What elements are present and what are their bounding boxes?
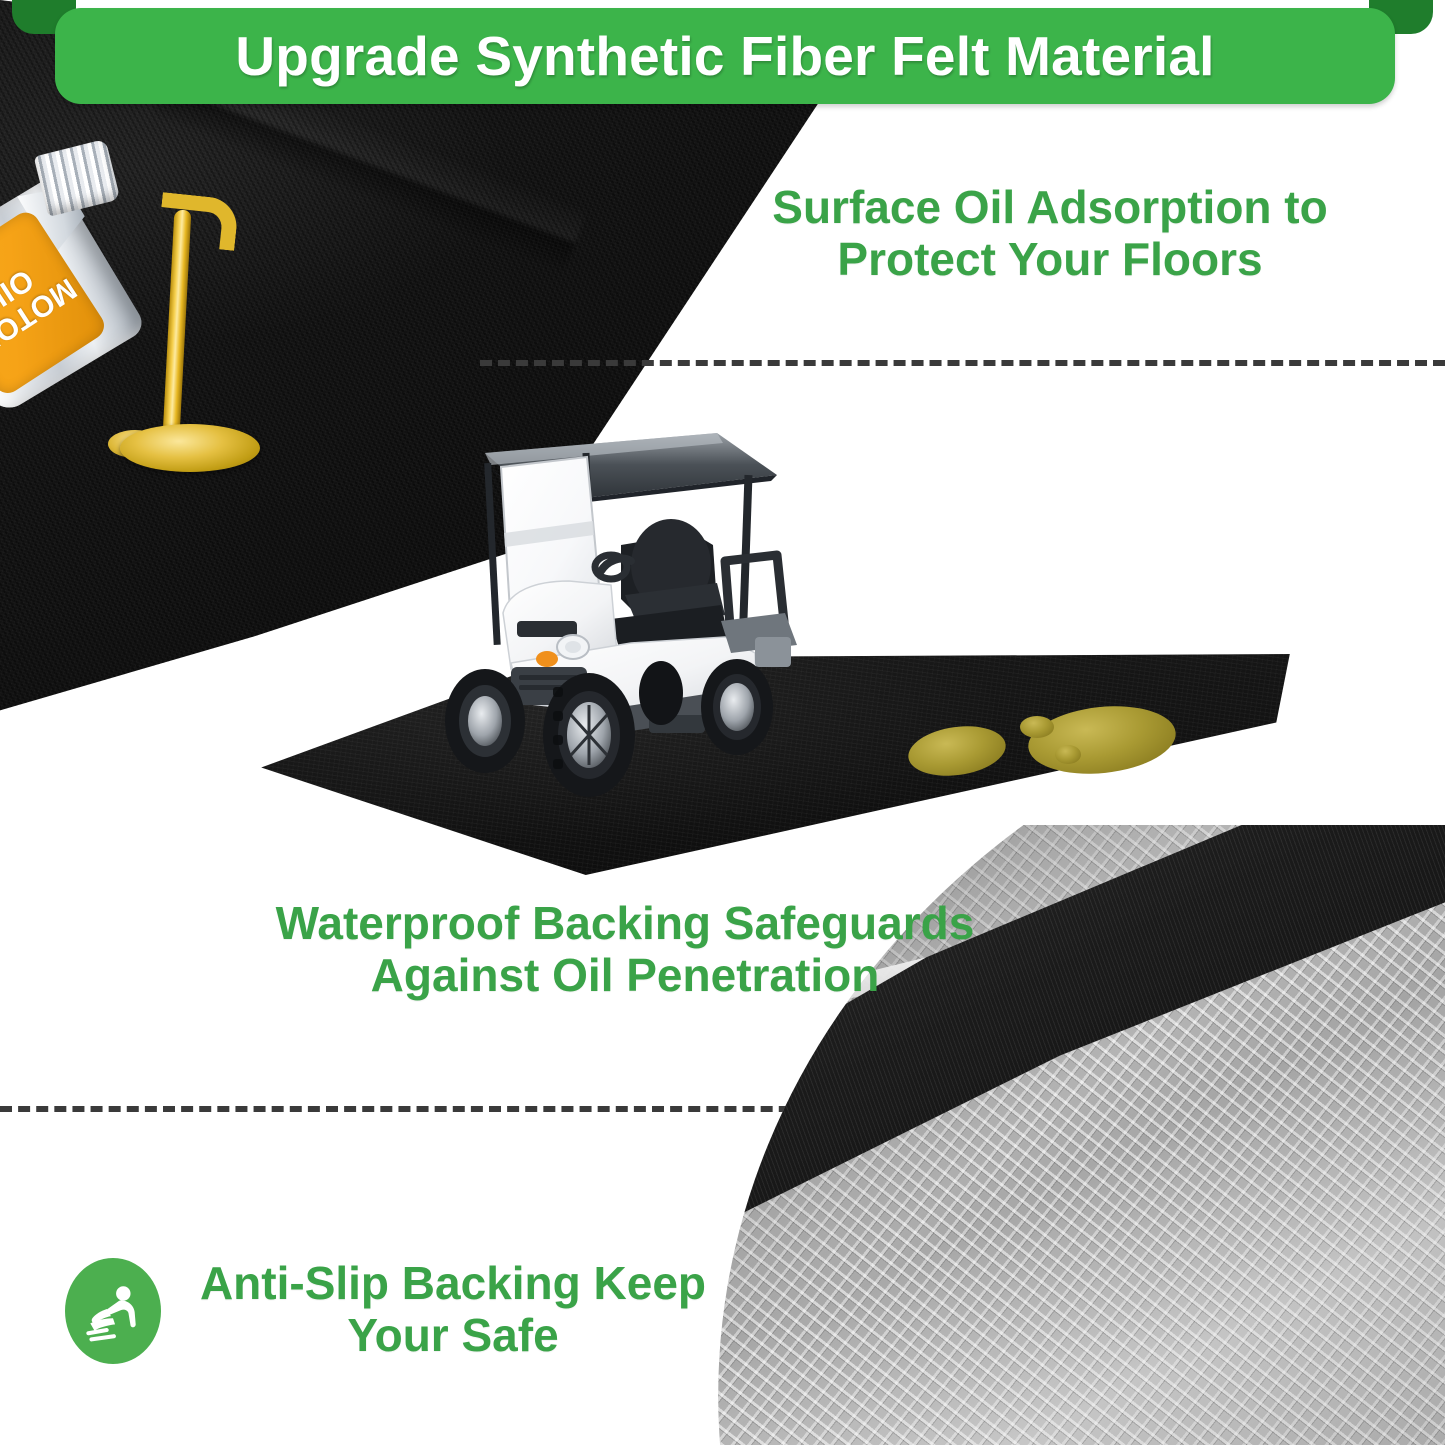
bottle-neck <box>34 139 121 217</box>
slip-fall-icon <box>65 1258 161 1364</box>
header-banner: Upgrade Synthetic Fiber Felt Material <box>55 8 1395 104</box>
headline-waterproof-backing: Waterproof Backing Safeguards Against Oi… <box>190 898 1060 1001</box>
page-title: Upgrade Synthetic Fiber Felt Material <box>55 24 1395 88</box>
mat-oil-spill <box>1020 716 1054 738</box>
golf-cart-illustration <box>425 415 925 805</box>
divider-top <box>480 360 1445 366</box>
headline-anti-slip: Anti-Slip Backing Keep Your Safe <box>168 1258 738 1361</box>
headline-oil-adsorption: Surface Oil Adsorption to Protect Your F… <box>700 182 1400 285</box>
oil-pool <box>120 424 260 472</box>
mat-oil-spill <box>1055 745 1081 764</box>
product-feature-infographic: MOTOR OIL Upgrade Synthetic Fiber Felt M… <box>0 0 1445 1445</box>
